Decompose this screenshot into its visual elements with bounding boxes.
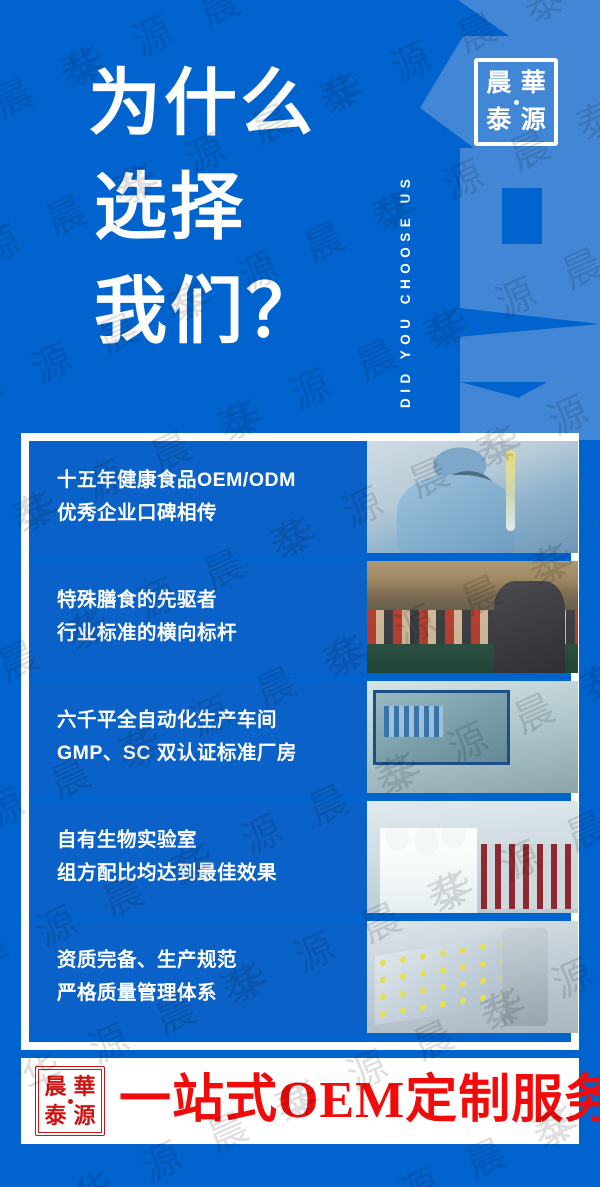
feature-line-1: 六千平全自动化生产车间: [57, 704, 367, 737]
feature-line-2: 优秀企业口碑相传: [57, 497, 367, 530]
headline-line-3: 我们？: [88, 260, 388, 364]
vertical-subtitle: DID YOU CHOOSE US: [398, 18, 424, 408]
feature-card-text: 自有生物实验室 组方配比均达到最佳效果: [29, 801, 367, 913]
poster-header: 为什么 选择 我们？ DID YOU CHOOSE US 晨 華 泰 源: [0, 0, 600, 440]
cleanroom-corridor-photo: [367, 681, 578, 793]
headline-line-1: 为什么: [88, 52, 388, 156]
feature-card: 自有生物实验室 组方配比均达到最佳效果: [29, 801, 578, 913]
conference-audience-photo: [367, 561, 578, 673]
company-seal-white-icon: 晨 華 泰 源: [474, 58, 558, 146]
feature-line-1: 自有生物实验室: [57, 824, 367, 857]
bottom-banner: 晨 華 泰 源 一站式OEM定制服务: [21, 1058, 579, 1144]
feature-line-2: 严格质量管理体系: [57, 977, 367, 1010]
feature-line-1: 十五年健康食品OEM/ODM: [57, 464, 367, 497]
feature-line-2: 组方配比均达到最佳效果: [57, 857, 367, 890]
production-line-workers-photo: [367, 801, 578, 913]
feature-card-text: 十五年健康食品OEM/ODM 优秀企业口碑相传: [29, 441, 367, 553]
headline-line-2: 选择: [88, 156, 388, 260]
page-title: 为什么 选择 我们？: [88, 52, 388, 364]
feature-card: 特殊膳食的先驱者 行业标准的横向标杆: [29, 561, 578, 673]
feature-line-1: 资质完备、生产规范: [57, 944, 367, 977]
seal-char-bottom-left: 泰: [41, 1101, 70, 1130]
feature-line-2: GMP、SC 双认证标准厂房: [57, 737, 367, 770]
seal-char-bottom-right: 源: [70, 1101, 99, 1130]
company-seal-red-icon: 晨 華 泰 源: [35, 1066, 105, 1136]
feature-line-1: 特殊膳食的先驱者: [57, 584, 367, 617]
seal-char-bottom-right: 源: [517, 103, 551, 139]
watermark-tile: 华 源 晨 泰: [104, 1168, 362, 1187]
seal-char-top-right: 華: [517, 66, 551, 102]
poster-root: 为什么 选择 我们？ DID YOU CHOOSE US 晨 華 泰 源 十五年…: [0, 0, 600, 1187]
feature-card-list: 十五年健康食品OEM/ODM 优秀企业口碑相传 特殊膳食的先驱者 行业标准的横向…: [29, 441, 578, 1033]
feature-card: 十五年健康食品OEM/ODM 优秀企业口碑相传: [29, 441, 578, 553]
seal-char-top-left: 晨: [482, 66, 516, 102]
banner-slogan: 一站式OEM定制服务: [119, 1075, 600, 1127]
feature-line-2: 行业标准的横向标杆: [57, 617, 367, 650]
seal-char-top-left: 晨: [41, 1072, 70, 1101]
seal-char-top-right: 華: [70, 1072, 99, 1101]
feature-card-text: 六千平全自动化生产车间 GMP、SC 双认证标准厂房: [29, 681, 367, 793]
seal-char-bottom-left: 泰: [482, 103, 516, 139]
lab-technician-photo: [367, 441, 578, 553]
blister-packaging-photo: [367, 921, 578, 1033]
feature-card-text: 特殊膳食的先驱者 行业标准的横向标杆: [29, 561, 367, 673]
feature-card: 资质完备、生产规范 严格质量管理体系: [29, 921, 578, 1033]
feature-card: 六千平全自动化生产车间 GMP、SC 双认证标准厂房: [29, 681, 578, 793]
feature-card-text: 资质完备、生产规范 严格质量管理体系: [29, 921, 367, 1033]
